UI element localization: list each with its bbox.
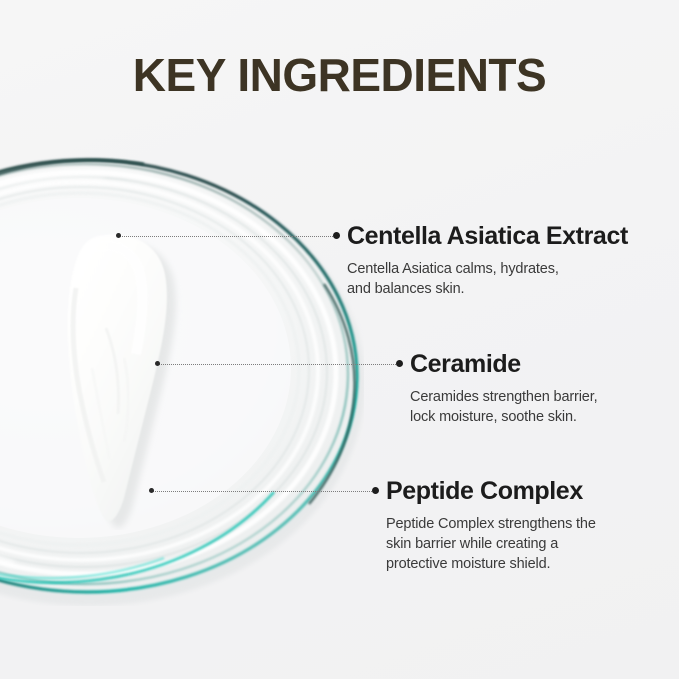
- glass-petri-dish: [0, 144, 364, 606]
- bullet-dot-centella: [333, 232, 340, 239]
- infographic-canvas: KEY INGREDIENTS: [0, 0, 679, 679]
- leader-start-dot-peptide: [149, 488, 154, 493]
- bullet-dot-peptide: [372, 487, 379, 494]
- ingredient-callout-centella: Centella Asiatica Extract Centella Asiat…: [347, 221, 628, 299]
- description-line: protective moisture shield.: [386, 554, 596, 574]
- ingredient-callout-peptide: Peptide Complex Peptide Complex strength…: [386, 476, 596, 574]
- description-line: Centella Asiatica calms, hydrates,: [347, 259, 628, 279]
- ingredient-name-ceramide: Ceramide: [410, 349, 597, 379]
- cream-swatch: [54, 228, 194, 530]
- leader-start-dot-ceramide: [155, 361, 160, 366]
- ingredient-callout-ceramide: Ceramide Ceramides strengthen barrier, l…: [410, 349, 597, 427]
- description-line: and balances skin.: [347, 279, 628, 299]
- page-title: KEY INGREDIENTS: [0, 47, 679, 103]
- description-line: Peptide Complex strengthens the: [386, 514, 596, 534]
- ingredient-description-centella: Centella Asiatica calms, hydrates, and b…: [347, 259, 628, 299]
- ingredient-name-centella: Centella Asiatica Extract: [347, 221, 628, 251]
- description-line: skin barrier while creating a: [386, 534, 596, 554]
- leader-line-ceramide: [158, 364, 396, 366]
- leader-start-dot-centella: [116, 233, 121, 238]
- description-line: Ceramides strengthen barrier,: [410, 387, 597, 407]
- description-line: lock moisture, soothe skin.: [410, 407, 597, 427]
- leader-line-centella: [119, 236, 333, 238]
- leader-line-peptide: [152, 491, 372, 493]
- bullet-dot-ceramide: [396, 360, 403, 367]
- ingredient-description-ceramide: Ceramides strengthen barrier, lock moist…: [410, 387, 597, 427]
- ingredient-description-peptide: Peptide Complex strengthens the skin bar…: [386, 514, 596, 574]
- ingredient-name-peptide: Peptide Complex: [386, 476, 596, 506]
